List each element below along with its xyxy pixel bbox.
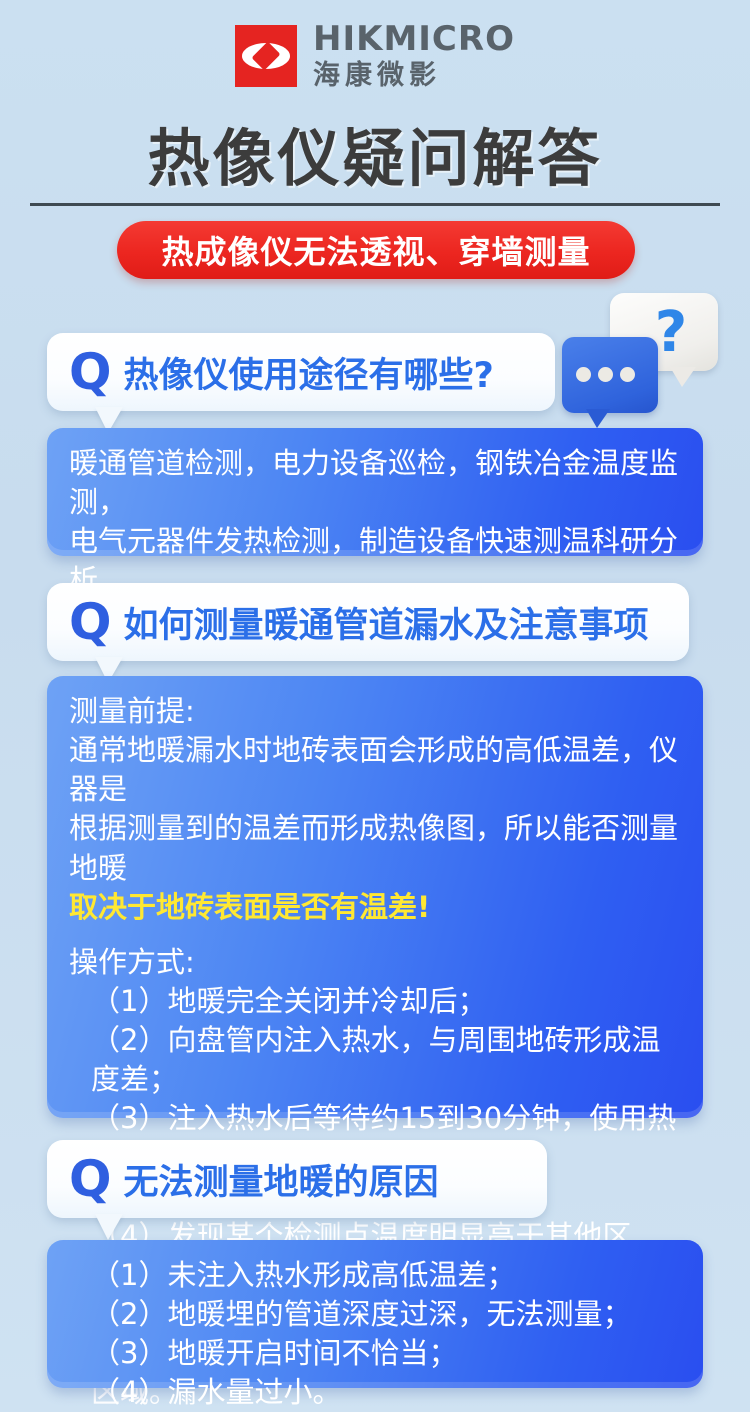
hikmicro-eye-logo-icon <box>235 25 297 87</box>
step-2: （2）向盘管内注入热水，与周围地砖形成温度差； <box>69 1021 681 1099</box>
premise-label: 测量前提: <box>69 692 681 731</box>
subtitle-banner: 热成像仪无法透视、穿墙测量 <box>117 221 635 279</box>
dot-3 <box>620 367 635 382</box>
premise-line-1: 通常地暖漏水时地砖表面会形成的高低温差，仪器是 <box>69 731 681 809</box>
q-marker-2: Q <box>69 597 112 647</box>
question-text-3: 无法测量地暖的原因 <box>124 1154 439 1205</box>
question-text-1: 热像仪使用途径有哪些? <box>124 347 494 398</box>
q-marker-1: Q <box>69 347 112 397</box>
question-card-1[interactable]: Q 热像仪使用途径有哪些? <box>47 333 555 411</box>
dot-2 <box>598 367 613 382</box>
brand-wordmark: HIKMICRO 海康微影 <box>313 22 515 89</box>
brand-name-cn: 海康微影 <box>313 62 515 89</box>
reason-1: （1）未注入热水形成高低温差； <box>69 1256 681 1295</box>
steps-label: 操作方式: <box>69 943 681 982</box>
question-tail-3 <box>95 1214 123 1240</box>
question-mark-icon: ? <box>610 293 718 371</box>
question-card-2[interactable]: Q 如何测量暖通管道漏水及注意事项 <box>47 583 689 661</box>
question-text-2: 如何测量暖通管道漏水及注意事项 <box>124 597 649 648</box>
premise-highlight: 取决于地砖表面是否有温差! <box>69 888 681 927</box>
premise-line-2: 根据测量到的温差而形成热像图，所以能否测量地暖 <box>69 809 681 887</box>
title-divider <box>30 203 720 206</box>
question-card-3[interactable]: Q 无法测量地暖的原因 <box>47 1140 547 1218</box>
dot-1 <box>576 367 591 382</box>
typing-dots-icon <box>576 367 646 382</box>
answer-card-3: （1）未注入热水形成高低温差； （2）地暖埋的管道深度过深，无法测量； （3）地… <box>47 1240 703 1388</box>
page-title: 热像仪疑问解答 <box>0 108 750 198</box>
subtitle-banner-label: 热成像仪无法透视、穿墙测量 <box>161 227 590 273</box>
answer-card-1: 暖通管道检测，电力设备巡检，钢铁冶金温度监测， 电气元器件发热检测，制造设备快速… <box>47 428 703 556</box>
answer-1-line-1: 暖通管道检测，电力设备巡检，钢铁冶金温度监测， <box>69 444 681 522</box>
speech-bubbles-illustration: ? <box>562 293 722 428</box>
infographic-page: HIKMICRO 海康微影 热像仪疑问解答 热成像仪无法透视、穿墙测量 ? Q … <box>0 0 750 1412</box>
step-1: （1）地暖完全关闭并冷却后； <box>69 982 681 1021</box>
brand-name-en: HIKMICRO <box>313 22 515 56</box>
reason-3: （3）地暖开启时间不恰当； <box>69 1334 681 1373</box>
brand-logo: HIKMICRO 海康微影 <box>0 22 750 89</box>
reason-2: （2）地暖埋的管道深度过深，无法测量； <box>69 1295 681 1334</box>
q-marker-3: Q <box>69 1154 112 1204</box>
answer-card-2: 测量前提: 通常地暖漏水时地砖表面会形成的高低温差，仪器是 根据测量到的温差而形… <box>47 676 703 1118</box>
reason-4: （4）漏水量过小。 <box>69 1373 681 1412</box>
